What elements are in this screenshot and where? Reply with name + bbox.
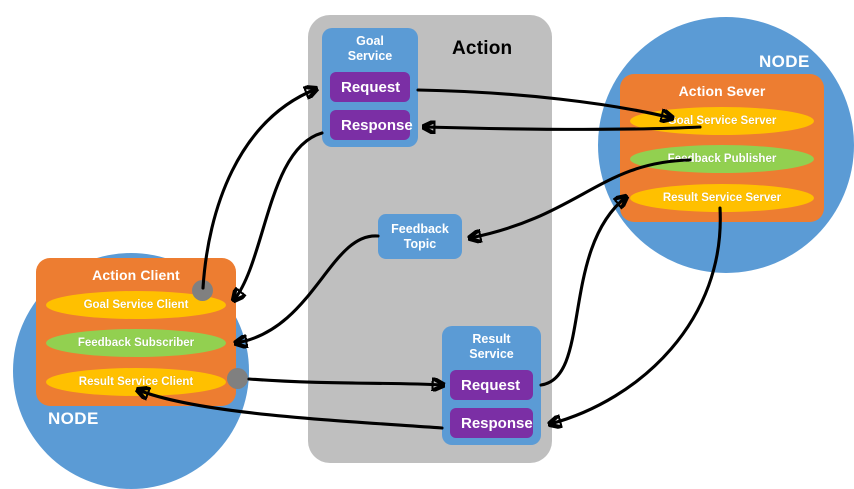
result-service-request[interactable]: Request <box>450 370 533 400</box>
pill-result-service-client[interactable]: Result Service Client <box>46 368 226 396</box>
client-node-label: NODE <box>48 409 99 429</box>
pill-label: Result Service Client <box>79 376 193 388</box>
goal-service-title-line2: Service <box>322 49 418 64</box>
pill-label: Feedback Subscriber <box>78 337 194 349</box>
pill-result-service-server[interactable]: Result Service Server <box>630 184 814 212</box>
result-service-response[interactable]: Response <box>450 408 533 438</box>
pill-label: Goal Service Client <box>84 299 189 311</box>
result-service-title-line1: Result <box>442 332 541 347</box>
pill-label: Goal Service Server <box>668 115 777 127</box>
action-server-box: Action Sever Goal Service Server Feedbac… <box>620 74 824 222</box>
result-service-title-line2: Service <box>442 347 541 362</box>
pill-label: Result Service Server <box>663 192 781 204</box>
pill-label: Feedback Publisher <box>668 153 777 165</box>
feedback-topic-box[interactable]: Feedback Topic <box>378 214 462 259</box>
diagram-canvas: Action NODE Action Client Goal Service C… <box>0 0 854 480</box>
pill-feedback-publisher[interactable]: Feedback Publisher <box>630 145 814 173</box>
goal-service-box: Goal Service Request Response <box>322 28 418 147</box>
pill-feedback-subscriber[interactable]: Feedback Subscriber <box>46 329 226 357</box>
feedback-topic-line2: Topic <box>404 237 436 252</box>
action-panel-title: Action <box>452 38 512 60</box>
server-node-label: NODE <box>759 52 810 72</box>
feedback-topic-line1: Feedback <box>391 222 449 237</box>
action-server-title: Action Sever <box>620 83 824 99</box>
goal-service-response[interactable]: Response <box>330 110 410 140</box>
connector-dot-result-client <box>227 368 248 389</box>
goal-service-title-line1: Goal <box>322 34 418 49</box>
arrow-result-request-to-server <box>541 197 626 385</box>
result-service-box: Result Service Request Response <box>442 326 541 445</box>
connector-dot-goal-client <box>192 280 213 301</box>
goal-service-request[interactable]: Request <box>330 72 410 102</box>
pill-goal-service-server[interactable]: Goal Service Server <box>630 107 814 135</box>
